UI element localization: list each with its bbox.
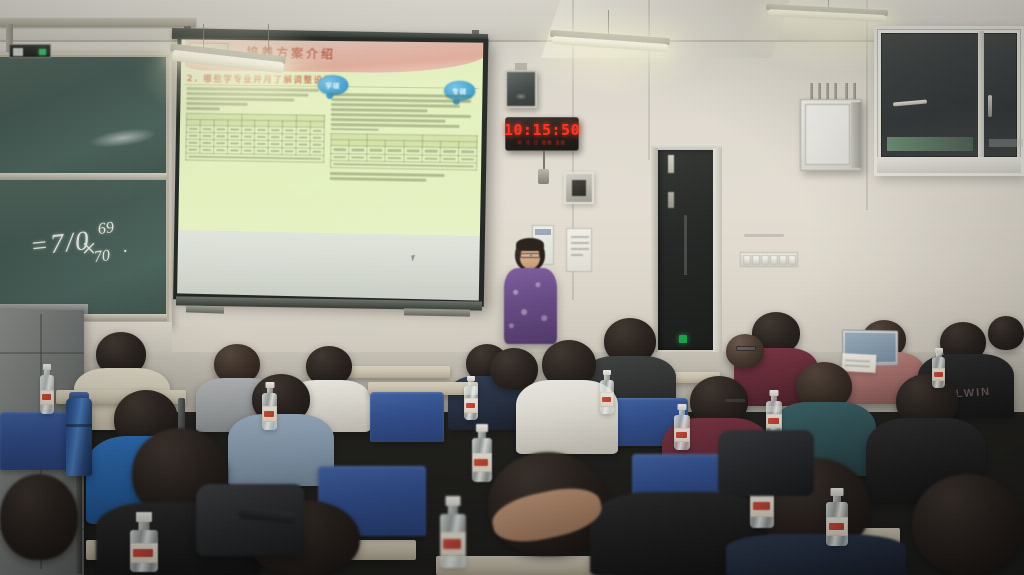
- window-reflection: [989, 139, 1023, 147]
- panel-side-face: [851, 102, 861, 168]
- clock-date-display: 年 月 日 星期 温度: [518, 141, 567, 145]
- chalkboard: =7/0 × 69 70 .: [0, 52, 172, 327]
- projector-screen-surface: 培养方案介绍 2. 哪些学专业并月了解调整设置 学硕 专硕: [177, 39, 483, 300]
- slide-column-left: [185, 87, 325, 163]
- corridor-light: [668, 192, 674, 208]
- light-switch[interactable]: [752, 255, 760, 265]
- water-bottle[interactable]: [932, 348, 945, 388]
- door-jamb-right: [713, 148, 722, 352]
- glasses-icon: [736, 346, 756, 351]
- light-switch[interactable]: [770, 255, 778, 265]
- glasses-icon: [724, 398, 746, 403]
- exit-indicator-icon: [679, 335, 687, 343]
- student-head: [988, 316, 1024, 350]
- student-head: [726, 334, 764, 368]
- ceiling-pipe-rail: [0, 18, 196, 27]
- led-wall-clock: 10:15:50 年 月 日 星期 温度: [505, 117, 579, 151]
- water-bottle[interactable]: [600, 370, 614, 414]
- water-bottle[interactable]: [440, 496, 466, 568]
- wall-seam: [866, 0, 868, 210]
- chair[interactable]: [370, 392, 444, 442]
- slide-table-left: [185, 112, 325, 163]
- window-sill: [877, 157, 1021, 173]
- glasses-icon: [520, 253, 540, 258]
- light-hanger-wire: [268, 24, 269, 54]
- water-bottle[interactable]: [826, 488, 848, 546]
- window: [874, 26, 1024, 176]
- slide-column-right: [330, 93, 479, 185]
- wall-seam: [648, 0, 650, 160]
- wall-picture-frame: [564, 172, 594, 204]
- chalk-trailing-mark: .: [123, 236, 128, 257]
- lecturer-torso: [504, 268, 557, 344]
- water-bottle[interactable]: [674, 404, 690, 450]
- student-head: [0, 474, 78, 560]
- projector-screen: 培养方案介绍 2. 哪些学专业并月了解调整设置 学硕 专硕: [173, 35, 488, 306]
- classroom-photo: =7/0 × 69 70 . 培养方案介绍 2. 哪些学专业并月了解调整设置 学…: [0, 0, 1024, 575]
- cabinet-seam: [0, 352, 84, 354]
- lecturer: [493, 238, 567, 356]
- door-jamb-left: [651, 148, 658, 352]
- light-switch-plate[interactable]: [740, 252, 798, 267]
- chalk-numerator: 69: [97, 219, 115, 239]
- student-torso: [726, 534, 906, 575]
- projector-screen-blank-area: [177, 230, 480, 301]
- window-reflection: [887, 137, 973, 151]
- presentation-slide: 培养方案介绍 2. 哪些学专业并月了解调整设置 学硕 专硕: [178, 39, 483, 236]
- light-switch[interactable]: [743, 255, 751, 265]
- light-switch[interactable]: [779, 255, 787, 265]
- water-bottle[interactable]: [464, 376, 478, 420]
- chalkboard-middle-rail: [0, 173, 167, 180]
- paper-sheet[interactable]: [842, 353, 877, 373]
- clock-time-display: 10:15:50: [504, 123, 580, 138]
- window-mullion: [978, 31, 984, 159]
- wall-speaker: [505, 70, 537, 108]
- water-bottle[interactable]: [262, 382, 277, 430]
- clock-power-cord: [543, 151, 545, 171]
- lecturer-hair: [516, 238, 544, 251]
- panel-door[interactable]: [805, 104, 850, 165]
- wall-mark: [744, 234, 784, 237]
- water-bottle[interactable]: [130, 512, 158, 572]
- screen-weight-right: [404, 308, 470, 316]
- chair[interactable]: [0, 412, 72, 470]
- corridor-light: [668, 155, 674, 173]
- door-edge: [684, 215, 687, 275]
- clock-power-adapter: [538, 169, 549, 184]
- student-head: [912, 474, 1024, 574]
- light-switch[interactable]: [761, 255, 769, 265]
- water-bottle[interactable]: [472, 424, 492, 482]
- window-latch[interactable]: [988, 95, 992, 117]
- panel-status-display: [9, 44, 51, 58]
- slide-table-right: [330, 133, 478, 170]
- thermos-band: [66, 424, 92, 427]
- fire-alarm-control-panel[interactable]: [800, 99, 862, 171]
- wall-placard: [566, 228, 592, 272]
- screen-weight-left: [186, 305, 224, 313]
- light-switch[interactable]: [788, 255, 796, 265]
- water-bottle[interactable]: [40, 364, 54, 414]
- backpack[interactable]: [718, 430, 814, 496]
- blue-thermos[interactable]: [66, 398, 92, 476]
- ceiling-seam: [0, 40, 1024, 42]
- chalk-denominator: 70: [93, 247, 111, 267]
- wall-notice-header: [535, 229, 551, 235]
- chalkboard-upper-panel: [0, 57, 166, 173]
